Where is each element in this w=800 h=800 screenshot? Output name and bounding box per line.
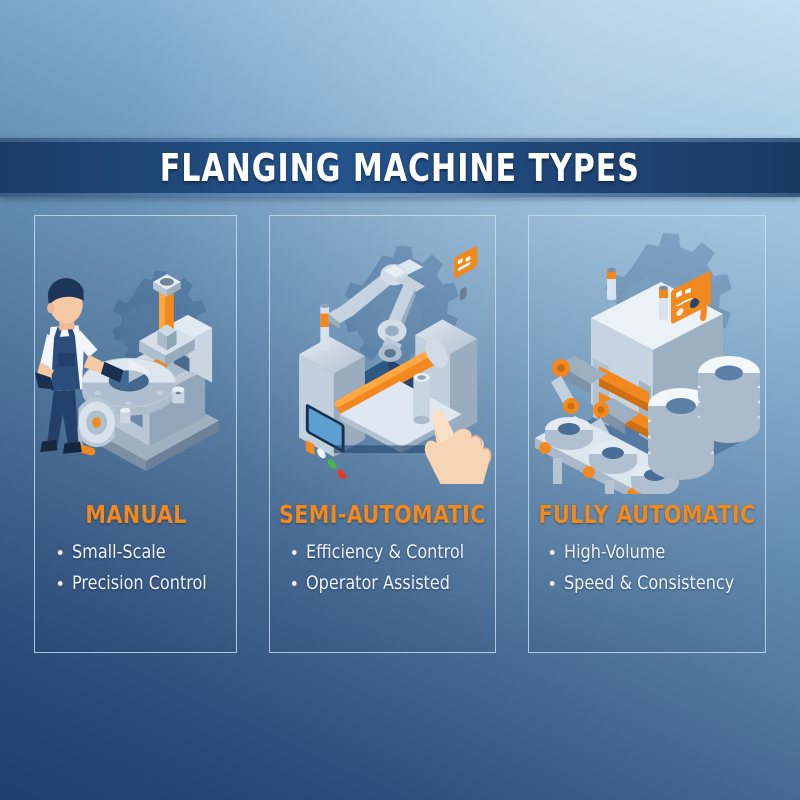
- list-item: Speed & Consistency: [548, 572, 734, 594]
- flange-ring: [589, 441, 637, 474]
- illustration-manual: [35, 226, 236, 494]
- list-item: High-Volume: [548, 541, 665, 563]
- flange-stack: [698, 356, 760, 443]
- card-fully-automatic[interactable]: FULLY AUTOMATIC High-Volume Speed & Cons…: [528, 215, 766, 653]
- cards-row: MANUAL Small-Scale Precision Control: [34, 215, 766, 653]
- page-title: FLANGING MACHINE TYPES: [160, 146, 640, 190]
- card-manual[interactable]: MANUAL Small-Scale Precision Control: [34, 215, 237, 653]
- illustration-fully-automatic: [529, 226, 765, 494]
- flange-ring: [545, 417, 593, 450]
- title-banner: FLANGING MACHINE TYPES: [0, 138, 800, 197]
- card-semi-automatic[interactable]: SEMI-AUTOMATIC Efficiency & Control Oper…: [269, 215, 496, 653]
- card-heading-manual: MANUAL: [85, 500, 186, 529]
- list-item: Precision Control: [56, 572, 207, 594]
- infographic-poster: FLANGING MACHINE TYPES: [0, 0, 800, 800]
- list-item: Operator Assisted: [290, 572, 450, 594]
- card-heading-fully-automatic: FULLY AUTOMATIC: [539, 500, 756, 529]
- card-bullets-manual: Small-Scale Precision Control: [56, 541, 216, 594]
- illustration-semi-automatic: [270, 226, 495, 494]
- card-heading-semi-automatic: SEMI-AUTOMATIC: [279, 500, 486, 529]
- list-item: Small-Scale: [56, 541, 166, 563]
- card-bullets-semi-automatic: Efficiency & Control Operator Assisted: [290, 541, 475, 594]
- list-item: Efficiency & Control: [290, 541, 464, 563]
- card-bullets-fully-automatic: High-Volume Speed & Consistency: [548, 541, 746, 594]
